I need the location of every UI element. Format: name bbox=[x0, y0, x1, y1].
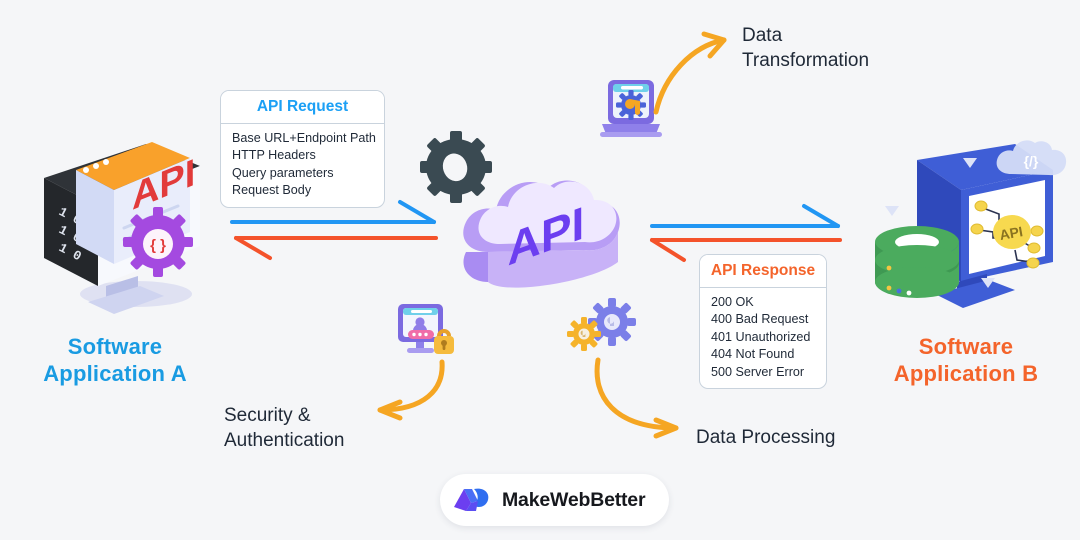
two-gears-icon bbox=[568, 300, 640, 362]
list-item: Request Body bbox=[232, 182, 384, 199]
makewebbetter-logo-text: MakeWebBetter bbox=[502, 489, 645, 512]
callout-line2: Transformation bbox=[742, 48, 972, 73]
app-a-line2: Application A bbox=[14, 360, 216, 387]
api-response-items: 200 OK 400 Bad Request 401 Unauthorized … bbox=[700, 288, 826, 388]
software-application-a-icon: 1 0 1 0 1 0 0 0 0 API bbox=[28, 136, 218, 311]
callout-line1: Security & bbox=[224, 403, 434, 428]
software-application-a-label: Software Application A bbox=[14, 333, 216, 387]
list-item: 404 Not Found bbox=[711, 346, 826, 363]
api-request-box: API Request Base URL+Endpoint Path HTTP … bbox=[220, 90, 385, 208]
list-item: 500 Server Error bbox=[711, 364, 826, 381]
response-arrow-right bbox=[652, 240, 840, 260]
data-transformation-label: Data Transformation bbox=[742, 23, 972, 73]
data-processing-arrow bbox=[592, 358, 702, 436]
monitor-user-password-lock-icon bbox=[392, 300, 454, 362]
response-arrow-left bbox=[236, 238, 436, 258]
callout-line1: Data Processing bbox=[696, 425, 916, 450]
data-transformation-arrow bbox=[648, 24, 743, 116]
list-item: 200 OK bbox=[711, 294, 826, 311]
data-processing-label: Data Processing bbox=[696, 425, 916, 450]
api-request-items: Base URL+Endpoint Path HTTP Headers Quer… bbox=[221, 124, 384, 207]
request-arrow-left bbox=[232, 202, 434, 222]
list-item: Base URL+Endpoint Path bbox=[232, 130, 384, 147]
right-flow-arrows bbox=[648, 196, 848, 264]
left-flow-arrows bbox=[228, 200, 443, 272]
software-application-b-label: Software Application B bbox=[866, 333, 1066, 387]
list-item: HTTP Headers bbox=[232, 147, 384, 164]
makewebbetter-logo[interactable]: MakeWebBetter bbox=[440, 474, 669, 526]
list-item: 400 Bad Request bbox=[711, 311, 826, 328]
request-arrow-right bbox=[652, 206, 838, 226]
app-b-line2: Application B bbox=[866, 360, 1066, 387]
api-cloud-icon: API bbox=[424, 132, 639, 317]
cloud-code-glyph: {/} bbox=[1024, 153, 1039, 169]
api-request-title: API Request bbox=[221, 91, 384, 124]
callout-line1: Data bbox=[742, 23, 972, 48]
app-a-line1: Software bbox=[14, 333, 216, 360]
json-braces-glyph: { } bbox=[150, 237, 166, 254]
security-authentication-label: Security & Authentication bbox=[224, 403, 434, 453]
software-application-b-icon: API {/} bbox=[865, 138, 1060, 313]
api-response-box: API Response 200 OK 400 Bad Request 401 … bbox=[699, 254, 827, 389]
makewebbetter-logo-icon bbox=[452, 483, 492, 517]
list-item: Query parameters bbox=[232, 165, 384, 182]
list-item: 401 Unauthorized bbox=[711, 329, 826, 346]
diagram-canvas: 1 0 1 0 1 0 0 0 0 API bbox=[0, 0, 1080, 540]
app-b-line1: Software bbox=[866, 333, 1066, 360]
callout-line2: Authentication bbox=[224, 428, 434, 453]
